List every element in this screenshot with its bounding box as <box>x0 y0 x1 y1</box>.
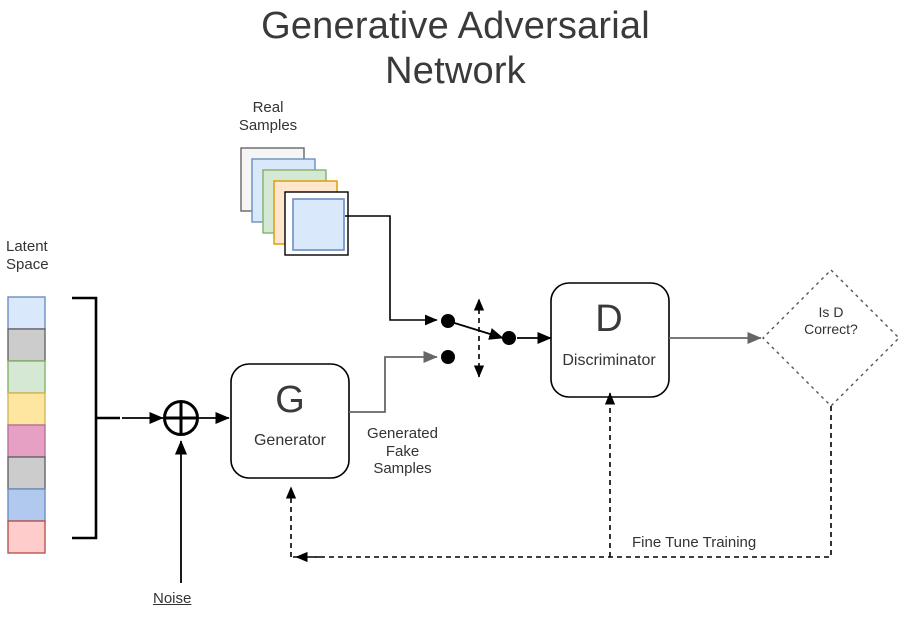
real-samples-to-switch-path <box>345 216 437 320</box>
discriminator-label: Discriminator <box>544 352 674 371</box>
switch-pivot[interactable] <box>502 331 516 345</box>
latent-cell-3 <box>8 361 45 393</box>
latent-cell-5 <box>8 425 45 457</box>
real-sample-card-front <box>293 199 344 250</box>
page-title: Generative AdversarialNetwork <box>0 4 911 94</box>
latent-cell-7 <box>8 489 45 521</box>
discriminator-symbol: D <box>550 297 668 342</box>
switch-contact-real[interactable] <box>441 314 455 328</box>
generator-label: Generator <box>231 432 349 451</box>
latent-cell-6 <box>8 457 45 489</box>
diagram-canvas: Generative AdversarialNetwork Latent Spa… <box>0 0 911 622</box>
real-samples-label: Real Samples <box>218 99 318 134</box>
decision-diamond[interactable] <box>763 270 899 406</box>
latent-cell-4 <box>8 393 45 425</box>
switch-contact-fake[interactable] <box>441 350 455 364</box>
title-line-1: Generative Adversarial <box>261 5 650 47</box>
real-samples-stack <box>241 148 348 255</box>
latent-cell-8 <box>8 521 45 553</box>
generated-fake-samples-label: Generated Fake Samples <box>349 425 456 478</box>
generator-symbol: G <box>231 378 349 423</box>
real-fake-switch[interactable] <box>441 300 516 377</box>
noise-label: Noise <box>153 590 191 608</box>
title-line-2: Network <box>385 50 526 92</box>
latent-cell-1 <box>8 297 45 329</box>
sum-node <box>165 402 198 435</box>
generated-fake-to-switch-path <box>349 357 437 412</box>
latent-space-bracket <box>72 298 120 538</box>
decision-label: Is D Correct? <box>781 304 881 337</box>
latent-cell-2 <box>8 329 45 361</box>
latent-space-label: Latent Space <box>6 238 49 273</box>
latent-space-stack <box>8 297 45 553</box>
fine-tune-training-label: Fine Tune Training <box>632 534 756 552</box>
switch-blade[interactable] <box>448 321 503 338</box>
